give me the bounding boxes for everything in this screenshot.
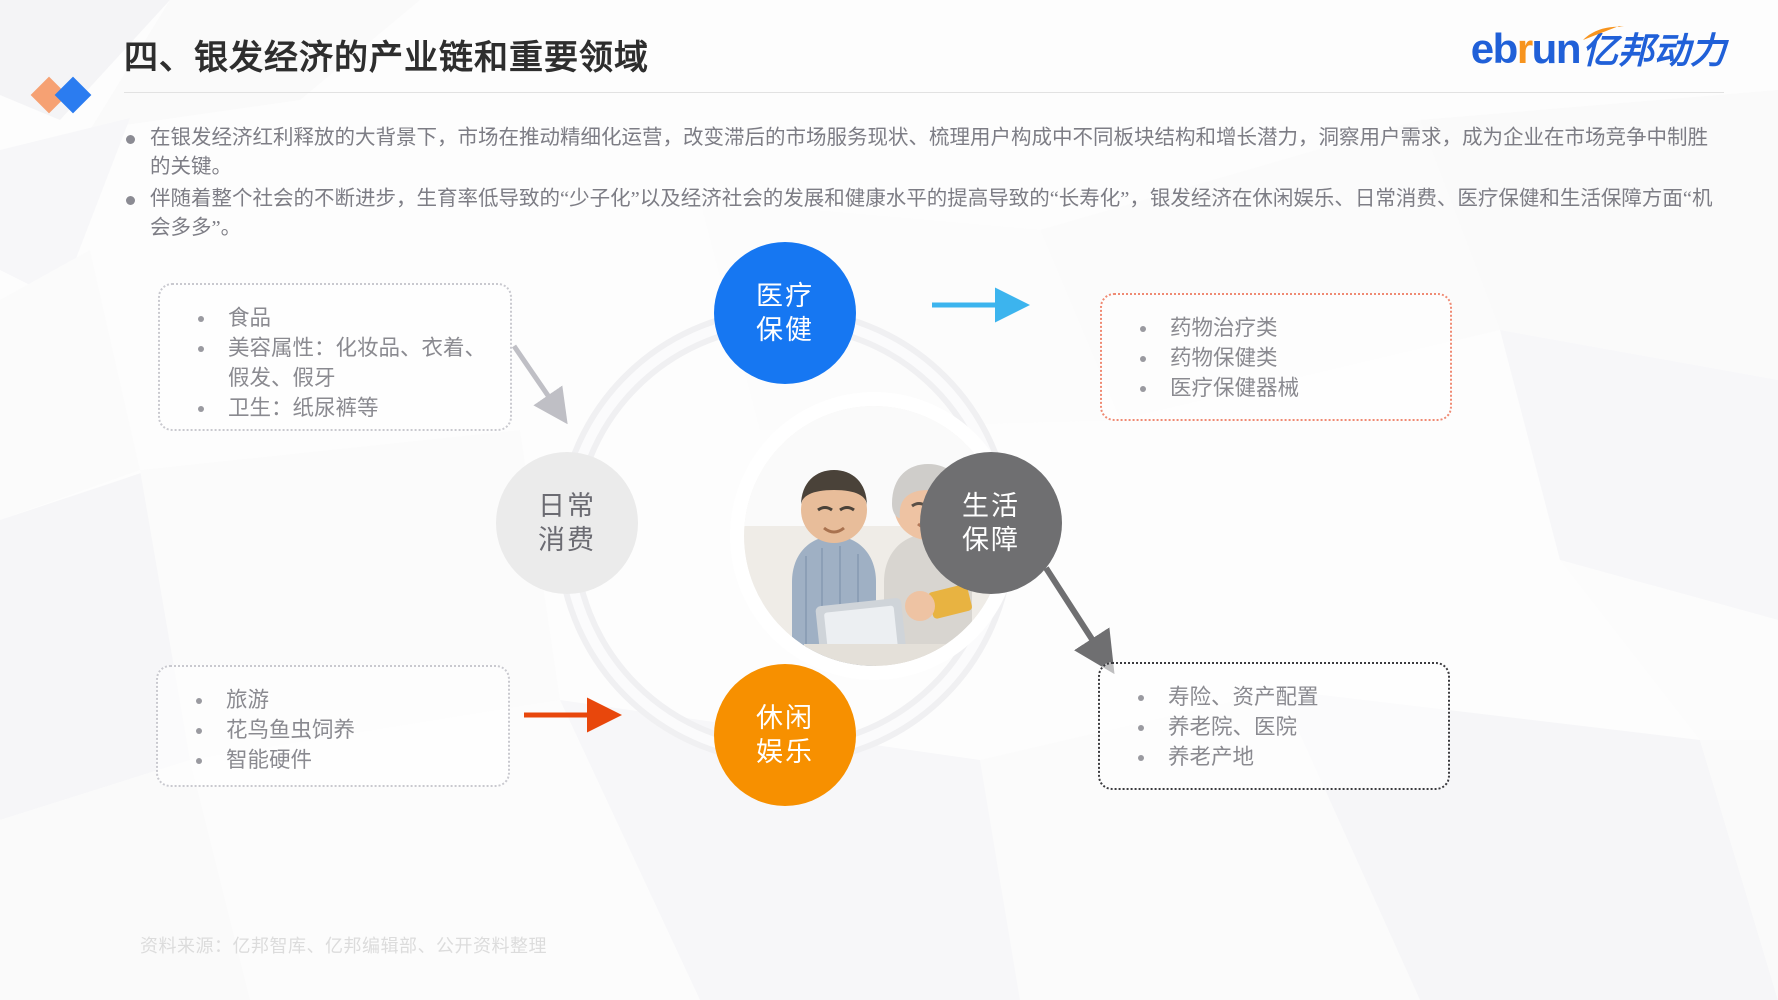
list-item-text: 旅游	[226, 688, 269, 712]
list-item: 医疗保健器械	[1124, 373, 1428, 403]
list-bullet-icon	[1138, 695, 1144, 701]
node-medical-line1: 医疗	[756, 279, 814, 313]
list-bullet-icon	[1140, 356, 1146, 362]
page-title: 四、银发经济的产业链和重要领域	[124, 30, 649, 79]
infobox-life-list: 寿险、资产配置 养老院、医院 养老产地	[1122, 682, 1426, 772]
infobox-leisure-list: 旅游 花鸟鱼虫饲养 智能硬件	[180, 685, 486, 775]
list-bullet-icon	[1140, 386, 1146, 392]
list-bullet-icon	[1140, 326, 1146, 332]
list-item: 旅游	[180, 685, 486, 715]
node-daily-consumption[interactable]: 日常 消费	[496, 452, 638, 594]
bullet-dot-icon	[126, 135, 135, 144]
node-medical[interactable]: 医疗 保健	[714, 242, 856, 384]
slide-root: 四、银发经济的产业链和重要领域 ebrun亿邦动力 在银发经济红利释放的大背景下…	[0, 0, 1778, 1000]
list-item-text: 寿险、资产配置	[1168, 685, 1319, 709]
intro-bullet-1-text: 在银发经济红利释放的大背景下，市场在推动精细化运营，改变滞后的市场服务现状、梳理…	[150, 127, 1708, 178]
list-bullet-icon	[1138, 725, 1144, 731]
source-note: 资料来源：亿邦智库、亿邦编辑部、公开资料整理	[140, 932, 547, 958]
intro-bullets: 在银发经济红利释放的大背景下，市场在推动精细化运营，改变滞后的市场服务现状、梳理…	[124, 124, 1714, 246]
logo-text-eb: eb	[1471, 25, 1517, 72]
node-life-line2: 保障	[962, 523, 1020, 557]
list-item: 花鸟鱼虫饲养	[180, 715, 486, 745]
list-bullet-icon	[198, 316, 204, 322]
decorative-diamonds	[34, 78, 106, 112]
infobox-daily-consumption: 食品 美容属性：化妆品、衣着、 假发、假牙 卫生：纸尿裤等	[158, 283, 512, 431]
infobox-medical-care: 药物治疗类 药物保健类 医疗保健器械	[1100, 293, 1452, 421]
node-medical-line2: 保健	[756, 313, 814, 347]
node-daily-line2: 消费	[538, 523, 596, 557]
list-item: 养老院、医院	[1122, 712, 1426, 742]
list-bullet-icon	[196, 698, 202, 704]
list-item-text: 智能硬件	[226, 748, 312, 772]
bullet-dot-icon	[126, 196, 135, 205]
list-bullet-icon	[196, 728, 202, 734]
header-divider	[124, 92, 1724, 93]
list-item-text: 美容属性：化妆品、衣着、 假发、假牙	[228, 336, 486, 390]
list-bullet-icon	[198, 406, 204, 412]
logo-text-r: r	[1517, 25, 1532, 72]
list-item: 美容属性：化妆品、衣着、 假发、假牙	[182, 333, 488, 393]
infobox-medical-list: 药物治疗类 药物保健类 医疗保健器械	[1124, 313, 1428, 403]
node-daily-line1: 日常	[538, 489, 596, 523]
list-item: 食品	[182, 303, 488, 333]
list-item: 药物保健类	[1124, 343, 1428, 373]
list-item: 智能硬件	[180, 745, 486, 775]
infobox-life-security: 寿险、资产配置 养老院、医院 养老产地	[1098, 662, 1450, 790]
node-life-line1: 生活	[962, 489, 1020, 523]
list-bullet-icon	[1138, 755, 1144, 761]
node-leisure-line1: 休闲	[756, 701, 814, 735]
list-item: 养老产地	[1122, 742, 1426, 772]
diamond-blue-icon	[55, 77, 92, 114]
list-item: 卫生：纸尿裤等	[182, 393, 488, 423]
list-bullet-icon	[198, 346, 204, 352]
list-item-text: 花鸟鱼虫饲养	[226, 718, 355, 742]
node-leisure[interactable]: 休闲 娱乐	[714, 664, 856, 806]
infobox-leisure: 旅游 花鸟鱼虫饲养 智能硬件	[156, 665, 510, 787]
brand-logo: ebrun亿邦动力	[1471, 28, 1726, 70]
list-item: 药物治疗类	[1124, 313, 1428, 343]
list-item-text: 药物治疗类	[1170, 316, 1278, 340]
infobox-daily-list: 食品 美容属性：化妆品、衣着、 假发、假牙 卫生：纸尿裤等	[182, 303, 488, 423]
list-item-text: 食品	[228, 306, 271, 330]
list-item-text: 医疗保健器械	[1170, 376, 1299, 400]
list-item-text: 养老产地	[1168, 745, 1254, 769]
list-item-text: 卫生：纸尿裤等	[228, 396, 379, 420]
logo-text-un: un	[1532, 25, 1580, 72]
list-item: 寿险、资产配置	[1122, 682, 1426, 712]
list-item-text: 药物保健类	[1170, 346, 1278, 370]
list-item-text: 养老院、医院	[1168, 715, 1297, 739]
node-leisure-line2: 娱乐	[756, 735, 814, 769]
node-life-security[interactable]: 生活 保障	[920, 452, 1062, 594]
list-bullet-icon	[196, 758, 202, 764]
logo-swoosh-icon	[1583, 26, 1625, 42]
intro-bullet-1: 在银发经济红利释放的大背景下，市场在推动精细化运营，改变滞后的市场服务现状、梳理…	[124, 124, 1714, 182]
